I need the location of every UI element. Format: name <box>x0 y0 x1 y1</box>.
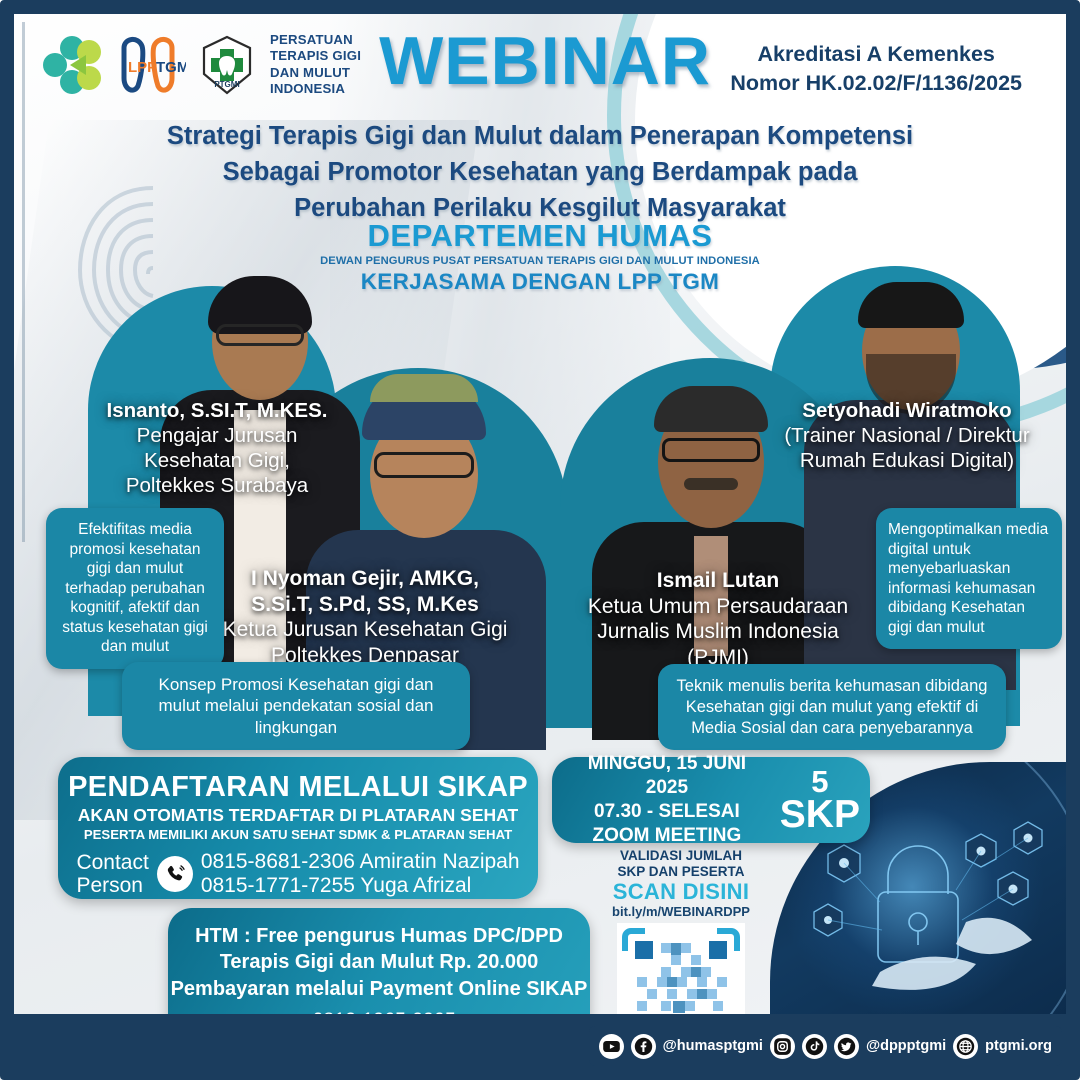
phone-icon <box>157 856 193 892</box>
globe-glyph <box>956 1037 975 1056</box>
twitter-glyph <box>837 1037 856 1056</box>
speaker-2-glasses <box>374 452 474 478</box>
speaker-2-name-line-2: S.Si.T, S.Pd, SS, M.Kes <box>212 592 518 618</box>
speaker-2-cap-pattern <box>370 374 478 402</box>
department-title: DEPARTEMEN HUMAS <box>0 218 1080 254</box>
org-line-2: TERAPIS GIGI <box>270 48 361 64</box>
speaker-name-block-4: Setyohadi Wiratmoko (Trainer Nasional / … <box>752 398 1062 473</box>
social-handle-1: @humasptgmi <box>663 1038 763 1054</box>
speaker-3-role-line-1: Ketua Umum Persaudaraan <box>558 594 878 620</box>
registration-panel: PENDAFTARAN MELALUI SIKAP AKAN OTOMATIS … <box>58 757 538 899</box>
speakers-section: Isnanto, S.SI.T, M.KES. Pengajar Jurusan… <box>0 250 1080 750</box>
qr-line-2: SKP DAN PESERTA <box>586 864 776 880</box>
ptgmi-logo-icon: PTGMI <box>196 34 258 96</box>
contact-person-label: Contact Person <box>76 851 148 898</box>
org-line-4: INDONESIA <box>270 81 361 97</box>
social-media-bar: @humasptgmi @dppptgmi <box>589 1026 1062 1066</box>
speaker-1-role-line-2: Kesehatan Gigi, <box>72 448 362 473</box>
qr-url: bit.ly/m/WEBINARDPP <box>586 904 776 919</box>
speaker-topic-3: Teknik menulis berita kehumasan dibidang… <box>658 664 1006 750</box>
youtube-glyph <box>602 1037 621 1056</box>
event-platform: ZOOM MEETING <box>566 824 768 848</box>
speaker-1-role-line-3: Poltekkes Surabaya <box>72 473 362 498</box>
lpp-tgm-logo-icon: LPP TGM <box>112 34 186 96</box>
tiktok-glyph <box>805 1037 824 1056</box>
speaker-1-glasses <box>216 324 304 346</box>
webinar-heading: WEBINAR <box>360 22 730 100</box>
htm-line-2: Terapis Gigi dan Mulut Rp. 20.000 <box>168 949 590 975</box>
social-handle-2: @dppptgmi <box>866 1038 946 1054</box>
registration-heading: PENDAFTARAN MELALUI SIKAP <box>68 771 528 804</box>
facebook-glyph <box>634 1037 653 1056</box>
speaker-topic-2: Konsep Promosi Kesehatan gigi dan mulut … <box>122 662 470 750</box>
instagram-glyph <box>773 1037 792 1056</box>
department-subtitle: DEWAN PENGURUS PUSAT PERSATUAN TERAPIS G… <box>0 255 1080 267</box>
subtitle-line-1: Strategi Terapis Gigi dan Mulut dalam Pe… <box>0 118 1080 154</box>
accreditation-line-1: Akreditasi A Kemenkes <box>730 40 1022 69</box>
registration-phone-1: 0815-8681-2306 Amiratin Nazipah <box>201 850 520 874</box>
ptgmi-badge-text: PTGMI <box>214 80 239 89</box>
accreditation-block: Akreditasi A Kemenkes Nomor HK.02.02/F/1… <box>730 40 1022 98</box>
qr-scan-label: SCAN DISINI <box>586 879 776 905</box>
tiktok-icon[interactable] <box>802 1034 827 1059</box>
qr-line-1: VALIDASI JUMLAH <box>586 848 776 864</box>
speaker-3-name: Ismail Lutan <box>558 568 878 594</box>
facebook-icon[interactable] <box>631 1034 656 1059</box>
clover-logo-icon <box>42 35 102 95</box>
speaker-topic-1: Efektifitas media promosi kesehatan gigi… <box>46 508 224 669</box>
speaker-name-block-1: Isnanto, S.SI.T, M.KES. Pengajar Jurusan… <box>72 398 362 498</box>
event-datetime-panel: MINGGU, 15 JUNI 2025 07.30 - SELESAI ZOO… <box>552 757 870 843</box>
htm-line-1: HTM : Free pengurus Humas DPC/DPD <box>168 923 590 949</box>
registration-line-2: AKAN OTOMATIS TERDAFTAR DI PLATARAN SEHA… <box>68 805 528 826</box>
phone-glyph <box>164 863 186 885</box>
speaker-2-name-line-1: I Nyoman Gejir, AMKG, <box>212 566 518 592</box>
htm-line-3: Pembayaran melalui Payment Online SIKAP <box>168 976 590 1002</box>
registration-phone-numbers: 0815-8681-2306 Amiratin Nazipah 0815-177… <box>201 850 520 898</box>
youtube-icon[interactable] <box>599 1034 624 1059</box>
organization-name: PERSATUAN TERAPIS GIGI DAN MULUT INDONES… <box>270 32 361 97</box>
speaker-name-block-3: Ismail Lutan Ketua Umum Persaudaraan Jur… <box>558 568 878 670</box>
contact-label-line-2: Person <box>76 874 148 898</box>
skp-label: SKP <box>780 796 860 833</box>
website-url: ptgmi.org <box>985 1038 1052 1054</box>
speaker-4-role-line-1: (Trainer Nasional / Direktur <box>752 423 1062 448</box>
skp-badge: 5 SKP <box>780 767 860 833</box>
department-block: DEPARTEMEN HUMAS DEWAN PENGURUS PUSAT PE… <box>0 218 1080 295</box>
department-cooperation: KERJASAMA DENGAN LPP TGM <box>0 269 1080 295</box>
registration-contact-row: Contact Person 0815-8681-2306 Amiratin N… <box>68 850 528 898</box>
speaker-4-name: Setyohadi Wiratmoko <box>752 398 1062 423</box>
twitter-icon[interactable] <box>834 1034 859 1059</box>
org-line-3: DAN MULUT <box>270 65 361 81</box>
contact-label-line-1: Contact <box>76 851 148 875</box>
org-line-1: PERSATUAN <box>270 32 361 48</box>
speaker-1-name: Isnanto, S.SI.T, M.KES. <box>72 398 362 423</box>
instagram-icon[interactable] <box>770 1034 795 1059</box>
event-time: 07.30 - SELESAI <box>566 800 768 824</box>
speaker-3-glasses <box>662 438 760 462</box>
globe-icon[interactable] <box>953 1034 978 1059</box>
skp-number: 5 <box>780 767 860 796</box>
registration-phone-2: 0815-1771-7255 Yuga Afrizal <box>201 874 520 898</box>
subtitle-line-2: Sebagai Promotor Kesehatan yang Berdampa… <box>0 154 1080 190</box>
speaker-3-hair <box>654 386 768 432</box>
logo-group: LPP TGM PTGMI PERSATUAN TERAPIS GIGI DAN… <box>42 32 361 97</box>
speaker-3-role-line-2: Jurnalis Muslim Indonesia <box>558 619 878 645</box>
event-datetime-text: MINGGU, 15 JUNI 2025 07.30 - SELESAI ZOO… <box>566 752 768 848</box>
speaker-2-role-line-1: Ketua Jurusan Kesehatan Gigi <box>212 617 518 643</box>
lpp-logo-text: LPP <box>128 59 157 76</box>
event-date: MINGGU, 15 JUNI 2025 <box>566 752 768 800</box>
webinar-subtitle: Strategi Terapis Gigi dan Mulut dalam Pe… <box>0 118 1080 227</box>
accreditation-line-2: Nomor HK.02.02/F/1136/2025 <box>730 69 1022 98</box>
registration-line-3: PESERTA MEMILIKI AKUN SATU SEHAT SDMK & … <box>68 827 528 842</box>
speaker-topic-4: Mengoptimalkan media digital untuk menye… <box>876 508 1062 649</box>
speaker-name-block-2: I Nyoman Gejir, AMKG, S.Si.T, S.Pd, SS, … <box>212 566 518 668</box>
webinar-poster: LPP TGM PTGMI PERSATUAN TERAPIS GIGI DAN… <box>0 0 1080 1080</box>
speaker-4-role-line-2: Rumah Edukasi Digital) <box>752 448 1062 473</box>
tgm-logo-text: TGM <box>156 59 186 76</box>
speaker-3-moustache <box>684 478 738 490</box>
speaker-1-role-line-1: Pengajar Jurusan <box>72 423 362 448</box>
